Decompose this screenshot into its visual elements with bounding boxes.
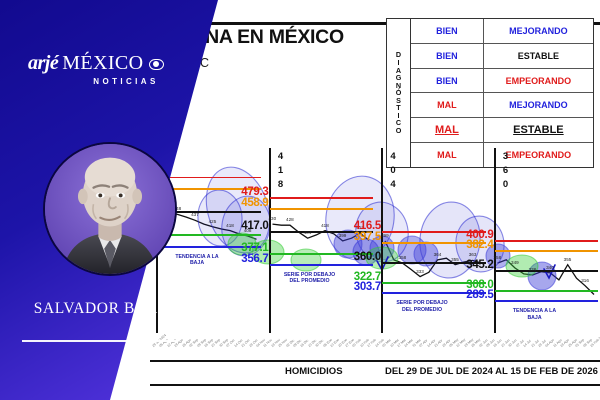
data-point-label: 425 (209, 219, 217, 224)
data-point-label: 418 (321, 223, 329, 228)
logo-wordmark-primary: arjé (28, 52, 58, 75)
panel-digit: 4 (387, 150, 399, 164)
diagnostic-table: DIAGNÓSTICO BIENMEJORANDOBIENESTABLEBIEN… (386, 18, 594, 168)
data-point-label: 358 (494, 255, 502, 260)
diagnostic-trend-label: MEJORANDO (509, 26, 568, 36)
limit-label-lower-control-limit: 289.5 (450, 289, 494, 301)
panel-digit: 4 (387, 178, 399, 192)
footer-divider-top (150, 360, 600, 362)
limit-label-lower-control-limit: 356.7 (225, 253, 269, 265)
diagnostic-trend-label: ESTABLE (513, 124, 564, 136)
diagnostic-trend: ESTABLE (484, 118, 593, 142)
limit-line-mean (495, 270, 599, 272)
data-point-label: 316 (581, 278, 589, 283)
panel-axis (269, 148, 271, 333)
limit-label-upper-warning-limit: 458.9 (225, 197, 269, 209)
data-point-label: 399 (381, 233, 389, 238)
brand-logo: arjé MÉXICO NOTICIAS (28, 52, 188, 94)
diagnostic-state-label: BIEN (436, 76, 458, 86)
portrait-illustration (45, 144, 175, 274)
diagnostic-trend: ESTABLE (484, 44, 593, 68)
panel-digit: 0 (500, 178, 512, 192)
diagnostic-state: MAL (411, 118, 484, 142)
limit-label-mean: 345.2 (450, 259, 494, 271)
data-point-label: 363 (469, 252, 477, 257)
infographic-root: SEMANA EN MÉXICO rama C DIAGNÓSTICO BIEN… (0, 0, 600, 400)
limit-label-mean: 360.0 (337, 251, 381, 263)
diagnostic-row: MALESTABLE (411, 118, 593, 143)
panel-annotation: TENDENCIA A LA BAJA (506, 308, 564, 321)
diagnostic-trend: EMPEORANDO (484, 69, 593, 93)
diagnostic-state-label: MAL (437, 100, 457, 110)
diagnostic-label-char: O (396, 127, 402, 135)
panel-digit-stack: 404 (387, 150, 399, 191)
panel-digit-stack: 418 (275, 150, 287, 191)
panel-digit: 0 (387, 164, 399, 178)
diagnostic-state: BIEN (411, 69, 484, 93)
panel-digit: 8 (275, 178, 287, 192)
data-point-label: 364 (434, 252, 442, 257)
avatar (43, 142, 177, 276)
diagnostic-trend-label: ESTABLE (518, 51, 559, 61)
logo-wordmark-secondary: MÉXICO (62, 52, 143, 75)
diagnostic-trend-label: MEJORANDO (509, 100, 568, 110)
data-point-label: 437 (191, 212, 199, 217)
data-point-label: 340 (546, 265, 554, 270)
diagnostic-row: BIENEMPEORANDO (411, 69, 593, 94)
diagnostic-state-label: BIEN (436, 51, 458, 61)
diagnostic-trend-label: EMPEORANDO (506, 76, 572, 86)
panel-digit: 1 (275, 164, 287, 178)
data-point-label: 428 (286, 217, 294, 222)
limit-line-lower-warning-limit (495, 290, 599, 292)
panel-annotation: SERIE POR DEBAJO DEL PROMEDIO (281, 272, 339, 285)
diagnostic-table-label: DIAGNÓSTICO (387, 19, 411, 167)
data-point-label: 404 (304, 230, 312, 235)
limit-label-mean: 417.0 (225, 220, 269, 232)
panel-digit-stack: 360 (500, 150, 512, 191)
footer-date-range: DEL 29 DE JUL DE 2024 AL 15 DE FEB DE 20… (385, 366, 598, 377)
logo-tagline: NOTICIAS (64, 77, 188, 86)
limit-line-lower-control-limit (270, 264, 374, 266)
diagnostic-state: BIEN (411, 44, 484, 68)
panel-axis (381, 148, 383, 333)
panel-digit: 4 (275, 150, 287, 164)
limit-line-upper-warning-limit (495, 250, 599, 252)
control-chart: 454517.9496.6454.0411.4390.1454448437425… (150, 148, 600, 348)
data-point-label: 430 (269, 216, 277, 221)
diagnostic-state-label: BIEN (436, 26, 458, 36)
limit-line-lower-control-limit (495, 300, 599, 302)
panel-digit: 3 (500, 150, 512, 164)
data-point-label: 358 (399, 255, 407, 260)
page-title: SEMANA EN MÉXICO (150, 26, 390, 49)
diagnostic-table-rows: BIENMEJORANDOBIENESTABLEBIENEMPEORANDOMA… (411, 19, 593, 167)
data-point-label: 333 (416, 269, 424, 274)
limit-label-upper-warning-limit: 382.4 (450, 239, 494, 251)
diagnostic-row: MALMEJORANDO (411, 93, 593, 118)
eye-icon (149, 59, 164, 70)
data-point-label: 355 (564, 257, 572, 262)
data-point-label: 349 (511, 260, 519, 265)
panel-annotation: SERIE POR DEBAJO DEL PROMEDIO (393, 300, 451, 313)
limit-line-upper-control-limit (270, 197, 374, 199)
limit-label-lower-control-limit: 303.7 (337, 281, 381, 293)
limit-label-upper-warning-limit: 397.5 (337, 231, 381, 243)
diagnostic-trend: MEJORANDO (484, 19, 593, 43)
limit-line-upper-warning-limit (270, 208, 374, 210)
diagnostic-state: MAL (411, 93, 484, 117)
x-axis-tick-labels: 29 Jul 202405 Ago12 Ago19 Ago26 Ago02 Se… (150, 330, 600, 358)
person-name: SALVADOR BORREGO (18, 300, 218, 318)
diagnostic-trend: MEJORANDO (484, 93, 593, 117)
diagnostic-state: BIEN (411, 19, 484, 43)
limit-line-upper-control-limit (495, 240, 599, 242)
diagnostic-row: BIENESTABLE (411, 44, 593, 69)
panel-annotation: TENDENCIA A LA BAJA (168, 254, 226, 267)
diagnostic-row: BIENMEJORANDO (411, 19, 593, 44)
diagnostic-state-label: MAL (435, 124, 459, 136)
footer-metric: HOMICIDIOS (285, 366, 343, 377)
name-underline (22, 340, 178, 342)
panel-digit: 6 (500, 164, 512, 178)
data-point-label: 336 (529, 267, 537, 272)
footer-divider-bottom (150, 384, 600, 386)
